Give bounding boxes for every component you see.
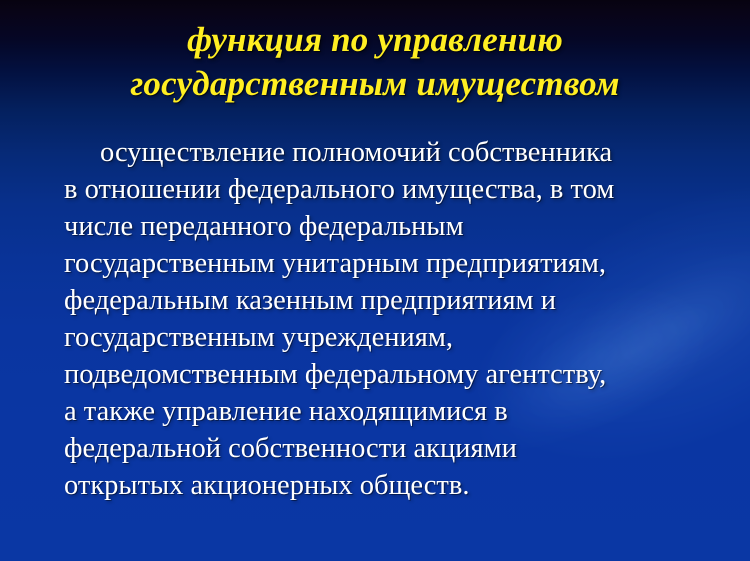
body-text-line: числе переданного федеральным: [64, 208, 736, 245]
slide-title-line: функция по управлению: [0, 18, 750, 62]
slide-body-text: осуществление полномочий собственника в …: [64, 134, 736, 504]
slide-title-line: государственным имуществом: [0, 62, 750, 106]
body-text-line: в отношении федерального имущества, в то…: [64, 171, 736, 208]
slide-title: функция по управлению государственным им…: [0, 18, 750, 106]
body-text-line: государственным учреждениям,: [64, 319, 736, 356]
body-text-line: открытых акционерных обществ.: [64, 467, 736, 504]
body-text-line: осуществление полномочий собственника: [64, 134, 736, 171]
presentation-slide: функция по управлению государственным им…: [0, 0, 750, 561]
body-text-line: государственным унитарным предприятиям,: [64, 245, 736, 282]
body-text-line: федеральным казенным предприятиям и: [64, 282, 736, 319]
body-text-line: федеральной собственности акциями: [64, 430, 736, 467]
body-text-line: а также управление находящимися в: [64, 393, 736, 430]
body-text-line: подведомственным федеральному агентству,: [64, 356, 736, 393]
